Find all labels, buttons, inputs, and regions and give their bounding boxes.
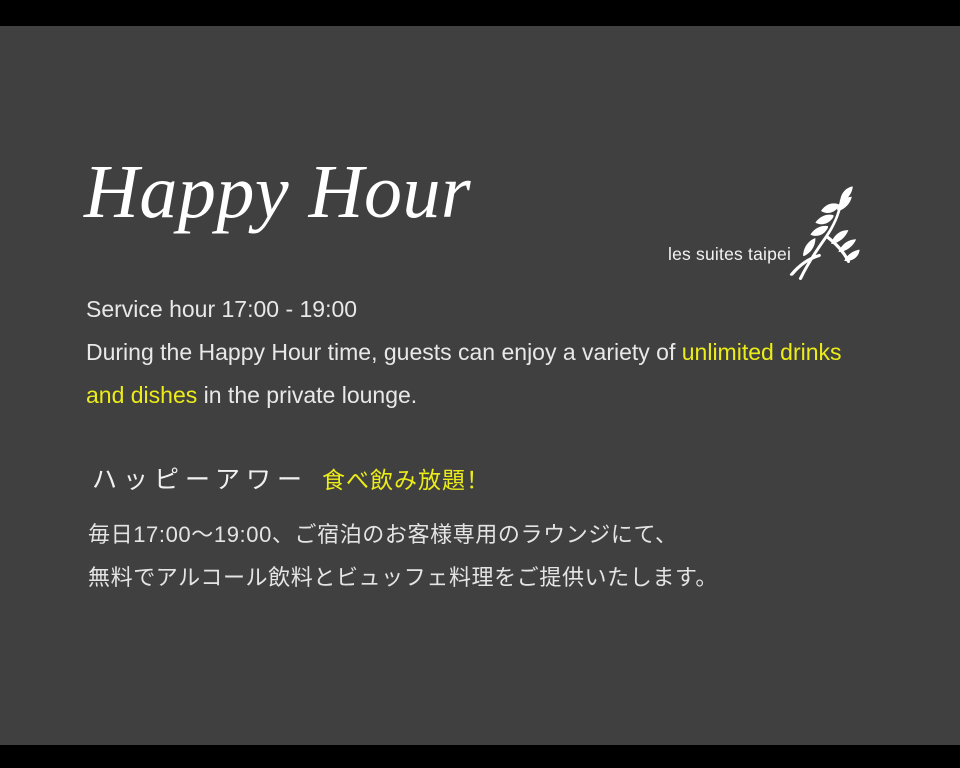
japanese-body-line-1: 毎日17:00～19:00、ご宿泊のお客様専用のラウンジにて、 — [88, 513, 718, 556]
japanese-heading-main: ハッピーアワー — [92, 466, 308, 494]
brand-logo: les suites taipei — [660, 186, 860, 286]
page-title: Happy Hour — [84, 144, 471, 240]
japanese-body-line-2: 無料でアルコール飲料とビュッフェ料理をご提供いたします。 — [88, 556, 718, 599]
english-description-line: During the Happy Hour time, guests can e… — [86, 331, 886, 417]
brand-wordmark: les suites taipei — [668, 244, 791, 265]
japanese-heading-highlight: 食べ飲み放題！ — [322, 467, 490, 493]
letterbox-top-bar — [0, 0, 960, 26]
slide-frame: Happy Hour les suites taipei — [0, 0, 960, 768]
japanese-heading: ハッピーアワー食べ飲み放題！ — [92, 463, 490, 497]
olive-branch-icon — [782, 186, 860, 282]
letterbox-bottom-bar — [0, 745, 960, 768]
slide-canvas: Happy Hour les suites taipei — [0, 26, 960, 745]
description-part-2: in the private lounge. — [197, 382, 417, 408]
service-hour-line: Service hour 17:00 - 19:00 — [86, 288, 886, 331]
english-body: Service hour 17:00 - 19:00 During the Ha… — [86, 288, 886, 417]
japanese-body: 毎日17:00～19:00、ご宿泊のお客様専用のラウンジにて、 無料でアルコール… — [88, 513, 718, 599]
description-part-1: During the Happy Hour time, guests can e… — [86, 339, 682, 365]
